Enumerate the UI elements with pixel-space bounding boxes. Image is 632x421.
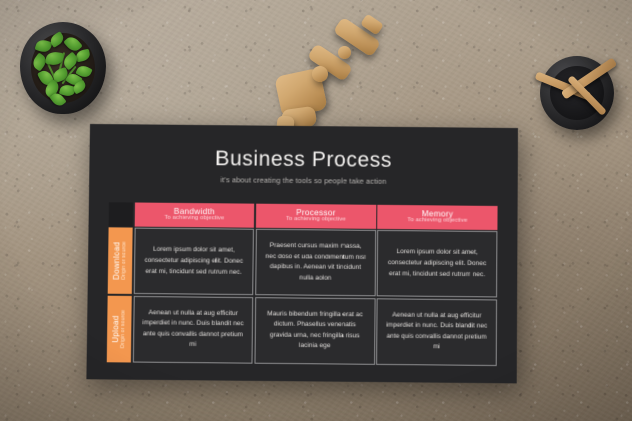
row-header-inner: Download Origin or source bbox=[113, 242, 128, 281]
mockup-scene: Business Process it's about creating the… bbox=[0, 0, 632, 421]
slide-canvas: Business Process it's about creating the… bbox=[86, 124, 518, 383]
wooden-mannequin bbox=[250, 12, 420, 142]
table-cell-text: Lorem ipsum dolor sit amet, consectetur … bbox=[386, 248, 488, 281]
table-cell-text: Aenean ut nulla at aug efficitur imperdi… bbox=[385, 310, 488, 353]
table-cell[interactable]: Aenean ut nulla at aug efficitur imperdi… bbox=[376, 298, 497, 366]
slide-header: Business Process it's about creating the… bbox=[109, 140, 498, 186]
table-cell[interactable]: Lorem ipsum dolor sit amet, consectetur … bbox=[133, 228, 254, 296]
comparison-table: Bandwidth To achieving objective Process… bbox=[107, 202, 498, 366]
table-corner-cell bbox=[109, 202, 133, 226]
row-header-subtitle: Origin or source bbox=[122, 242, 128, 280]
table-cell-text: Mauris bibendum fringilla erat ac dictum… bbox=[263, 309, 366, 352]
row-header-inner: Upload Origin or source bbox=[112, 310, 127, 349]
table-cell[interactable]: Lorem ipsum dolor sit amet, consectetur … bbox=[377, 230, 498, 298]
page-title: Business Process bbox=[109, 147, 497, 173]
table-cell[interactable]: Praesent cursus maxim massa, nec doso et… bbox=[255, 229, 376, 297]
column-header-processor[interactable]: Processor To achieving objective bbox=[256, 203, 376, 228]
row-header-subtitle: Origin or source bbox=[121, 310, 127, 349]
page-subtitle: it's about creating the tools so people … bbox=[109, 174, 498, 187]
potted-plant bbox=[20, 22, 106, 114]
presentation-slide[interactable]: Business Process it's about creating the… bbox=[86, 124, 518, 383]
table-cell-text: Aenean ut nulla at aug efficitur imperdi… bbox=[142, 308, 245, 351]
table-cell-text: Lorem ipsum dolor sit amet, consectetur … bbox=[143, 245, 245, 278]
row-header-upload[interactable]: Upload Origin or source bbox=[107, 296, 132, 363]
bowl-with-sticks bbox=[540, 56, 614, 130]
column-header-title: Memory bbox=[422, 209, 454, 218]
column-header-subtitle: To achieving objective bbox=[407, 219, 467, 226]
column-header-bandwidth[interactable]: Bandwidth To achieving objective bbox=[134, 202, 254, 227]
mannequin-elbow-joint bbox=[338, 46, 351, 59]
column-header-memory[interactable]: Memory To achieving objective bbox=[377, 204, 497, 229]
table-cell[interactable]: Aenean ut nulla at aug efficitur imperdi… bbox=[132, 296, 253, 364]
column-header-subtitle: To achieving objective bbox=[164, 216, 224, 223]
table-cell[interactable]: Mauris bibendum fringilla erat ac dictum… bbox=[254, 297, 375, 365]
column-header-subtitle: To achieving objective bbox=[286, 217, 346, 224]
row-header-title: Upload bbox=[112, 315, 120, 342]
table-cell-text: Praesent cursus maxim massa, nec doso et… bbox=[264, 241, 367, 284]
mannequin-shoulder-joint bbox=[312, 66, 328, 82]
row-header-download[interactable]: Download Origin or source bbox=[108, 228, 133, 295]
